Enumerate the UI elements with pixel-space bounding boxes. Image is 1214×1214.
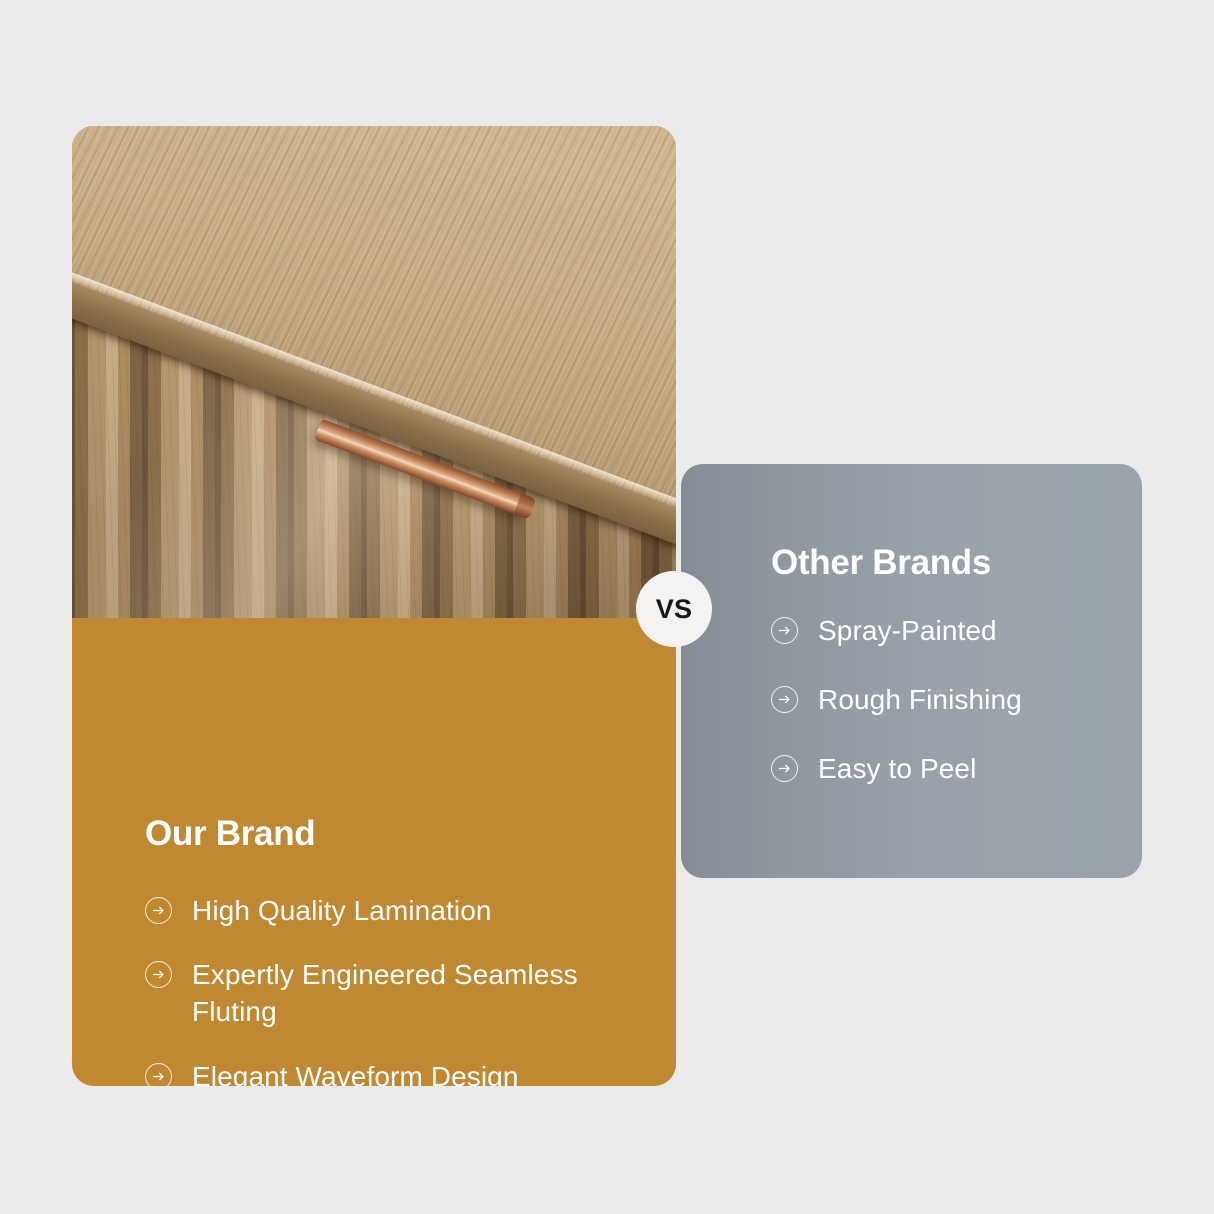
other-brands-title: Other Brands xyxy=(771,543,991,583)
list-item: Elegant Waveform Design xyxy=(145,1058,645,1086)
arrow-right-circle-icon xyxy=(145,961,172,988)
list-item-label: Rough Finishing xyxy=(818,681,1022,718)
our-brand-panel: Our Brand High Quality Lamination xyxy=(72,618,676,1086)
list-item: Spray-Painted xyxy=(771,612,1121,649)
our-brand-card: Our Brand High Quality Lamination xyxy=(72,126,676,1086)
list-item-label: Spray-Painted xyxy=(818,612,997,649)
list-item: Expertly Engineered Seamless Fluting xyxy=(145,956,645,1030)
list-item: High Quality Lamination xyxy=(145,892,645,929)
other-brands-feature-list: Spray-Painted Rough Finishing Easy to Pe… xyxy=(771,612,1121,820)
arrow-right-circle-icon xyxy=(771,755,798,782)
our-brand-title: Our Brand xyxy=(145,814,315,854)
vs-badge: VS xyxy=(636,571,712,647)
vs-badge-label: VS xyxy=(656,594,692,625)
arrow-right-circle-icon xyxy=(771,686,798,713)
list-item-label: Expertly Engineered Seamless Fluting xyxy=(192,956,645,1030)
arrow-right-circle-icon xyxy=(145,1063,172,1086)
list-item: Rough Finishing xyxy=(771,681,1121,718)
comparison-graphic: Other Brands Spray-Painted Rough Finishi… xyxy=(0,0,1214,1214)
list-item-label: Elegant Waveform Design xyxy=(192,1058,519,1086)
arrow-right-circle-icon xyxy=(145,897,172,924)
list-item: Easy to Peel xyxy=(771,750,1121,787)
list-item-label: High Quality Lamination xyxy=(192,892,492,929)
arrow-right-circle-icon xyxy=(771,617,798,644)
photo-shading xyxy=(72,126,676,618)
product-photo xyxy=(72,126,676,618)
other-brands-card: Other Brands Spray-Painted Rough Finishi… xyxy=(681,464,1142,878)
list-item-label: Easy to Peel xyxy=(818,750,976,787)
our-brand-feature-list: High Quality Lamination Expertly Enginee… xyxy=(145,892,645,1086)
